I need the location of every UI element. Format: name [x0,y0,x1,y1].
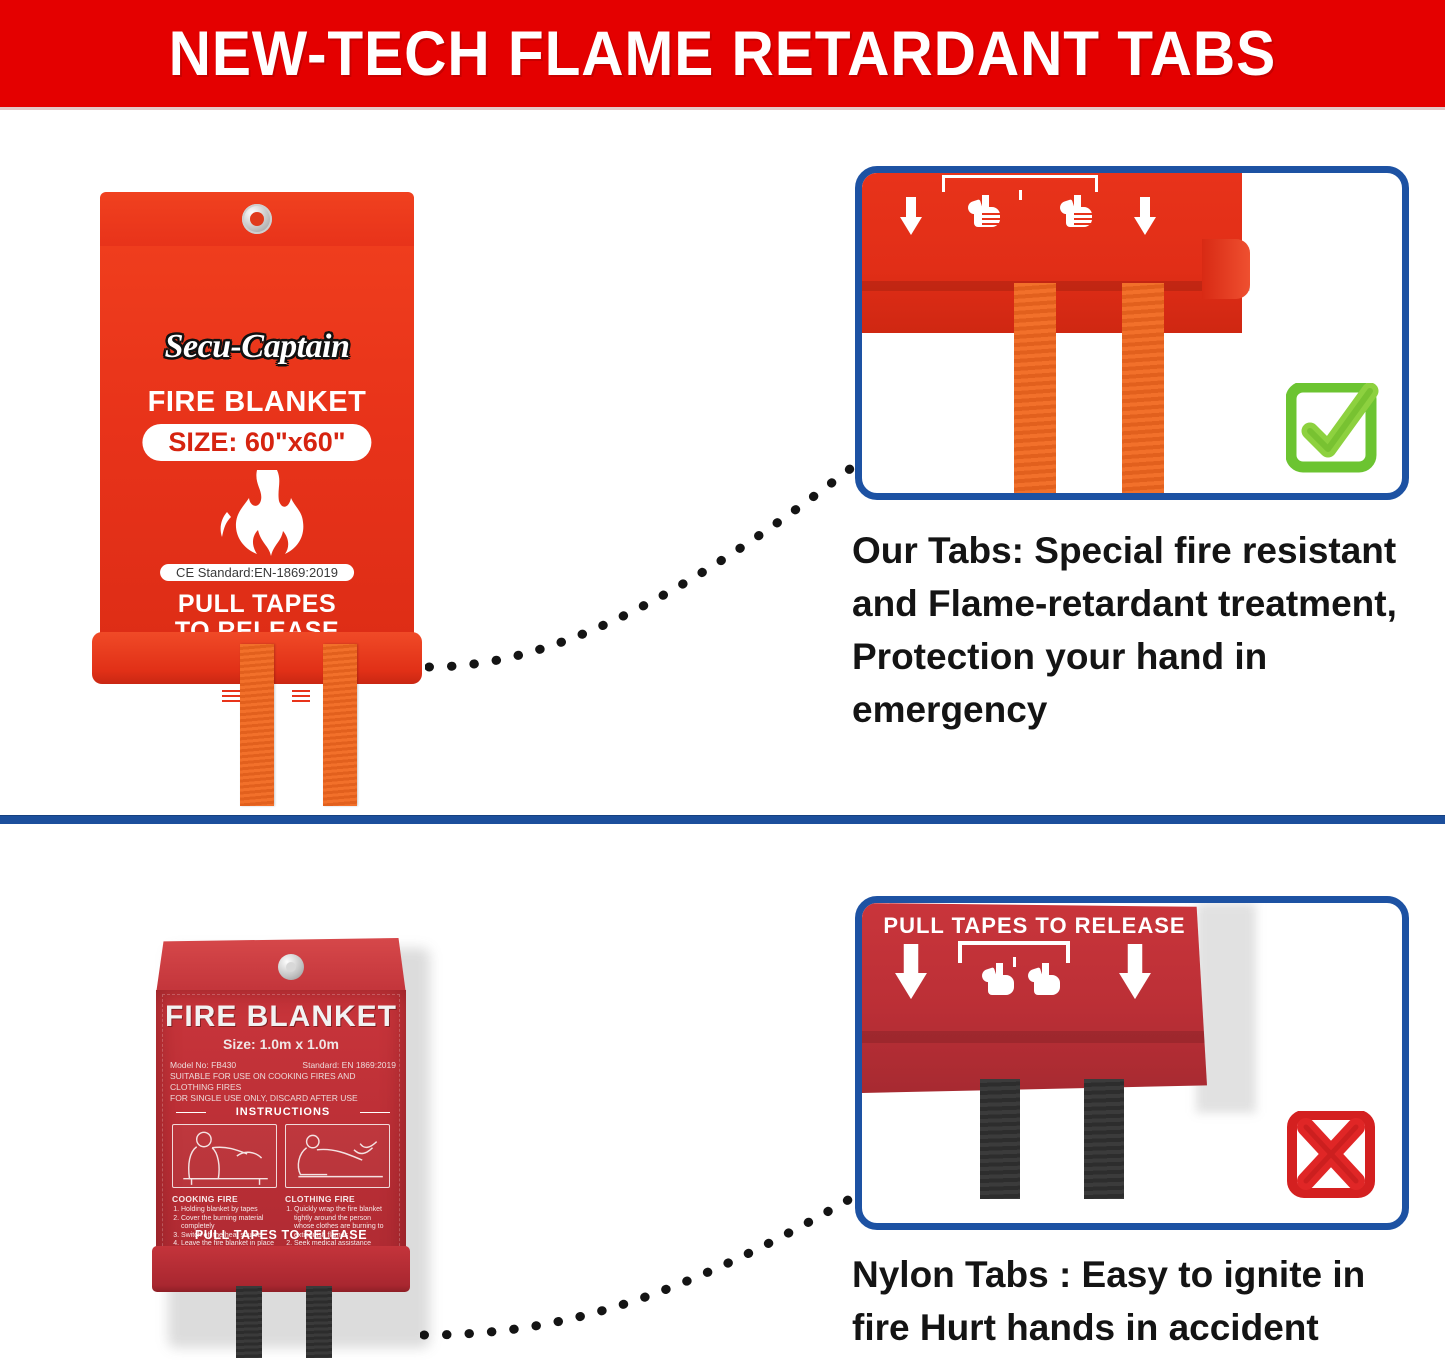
green-check-badge [1286,383,1382,475]
inset-bottom-icon-row [872,949,1202,1009]
top-section-caption: Our Tabs: Special fire resistant and Fla… [852,524,1432,736]
package-product-name: FIRE BLANKET [100,386,414,419]
inset-bottom-hand-left-icon [982,963,1018,1003]
banner-bottom-edge [0,107,1445,110]
cooking-fire-illustration [172,1124,277,1188]
inset-arrow-right-icon [1134,197,1156,237]
blanket-roll-end [1202,239,1250,299]
competitor-size-label: Size: 1.0m x 1.0m [150,1036,412,1052]
section-divider [0,815,1445,824]
brand-shield-letter: C [241,328,263,366]
top-inset-card [855,166,1409,500]
package-face: Secu-Captain FIRE BLANKET SIZE: 60"x60" … [100,246,414,640]
list-item: Holding blanket by tapes [181,1206,277,1215]
competitor-model-no: Model No: FB430 [170,1060,236,1071]
orange-tab-left [240,644,274,806]
orange-tab-right [323,644,357,806]
package-size-label: SIZE: 60"x60" [142,424,371,461]
product-package-image: Secu-Captain FIRE BLANKET SIZE: 60"x60" … [92,192,422,792]
bottom-inset-card: PULL TAPES TO RELEASE [855,896,1409,1230]
inset-bottom-hand-right-icon [1028,963,1064,1003]
black-tab-right [306,1286,332,1358]
competitor-meta-block: Model No: FB430 Standard: EN 1869:2019 S… [170,1060,396,1104]
bottom-section-caption: Nylon Tabs : Easy to ignite in fire Hurt… [852,1248,1432,1354]
package-hang-tab [100,192,414,246]
header-banner: NEW-TECH FLAME RETARDANT TABS [0,0,1445,107]
inset-arrow-left-icon [900,197,922,237]
inset-black-tab-right [1084,1079,1124,1199]
brand-logo: Secu-Captain [100,328,414,366]
connector-dots-bottom [420,1185,870,1350]
page-title: NEW-TECH FLAME RETARDANT TABS [169,18,1276,90]
competitor-usage-line-2: FOR SINGLE USE ONLY, DISCARD AFTER USE [170,1093,396,1104]
inset-orange-tab-right [1122,283,1164,493]
competitor-base-bar [152,1246,410,1292]
competitor-usage-line-1: SUITABLE FOR USE ON COOKING FIRES AND CL… [170,1071,396,1093]
competitor-grommet-icon [278,954,304,980]
brand-suffix: aptain [264,328,350,365]
inset-black-tab-left [980,1079,1020,1199]
inset-orange-tab-left [1014,283,1056,493]
grommet-hole-icon [242,204,272,234]
inset-hand-left-icon [968,195,1004,235]
competitor-package-image: FIRE BLANKET Size: 1.0m x 1.0m Model No:… [150,938,412,1358]
competitor-standard: Standard: EN 1869:2019 [302,1060,396,1071]
package-certification: CE Standard:EN-1869:2019 [160,564,354,581]
competitor-instructions-heading: INSTRUCTIONS [170,1106,396,1118]
clothing-fire-illustration [285,1124,390,1188]
connector-dots-top [425,455,865,685]
brand-prefix: Secu- [165,328,242,365]
cooking-fire-heading: COOKING FIRE [172,1194,277,1204]
flame-icon [205,468,309,565]
competitor-product-name: FIRE BLANKET [150,1000,412,1034]
black-tab-left [236,1286,262,1358]
inset-pull-icon-row [872,191,1202,251]
inset-hand-right-icon [1060,195,1096,235]
competitor-illustration-panels [172,1124,390,1188]
pull-line-1: PULL TAPES [100,591,414,618]
clothing-fire-heading: CLOTHING FIRE [285,1194,390,1204]
red-cross-badge [1286,1111,1382,1203]
inset-bottom-arrow-left-icon [895,944,927,1002]
inset-overlay-text: PULL TAPES TO RELEASE [862,913,1207,939]
inset-bottom-arrow-right-icon [1119,944,1151,1002]
